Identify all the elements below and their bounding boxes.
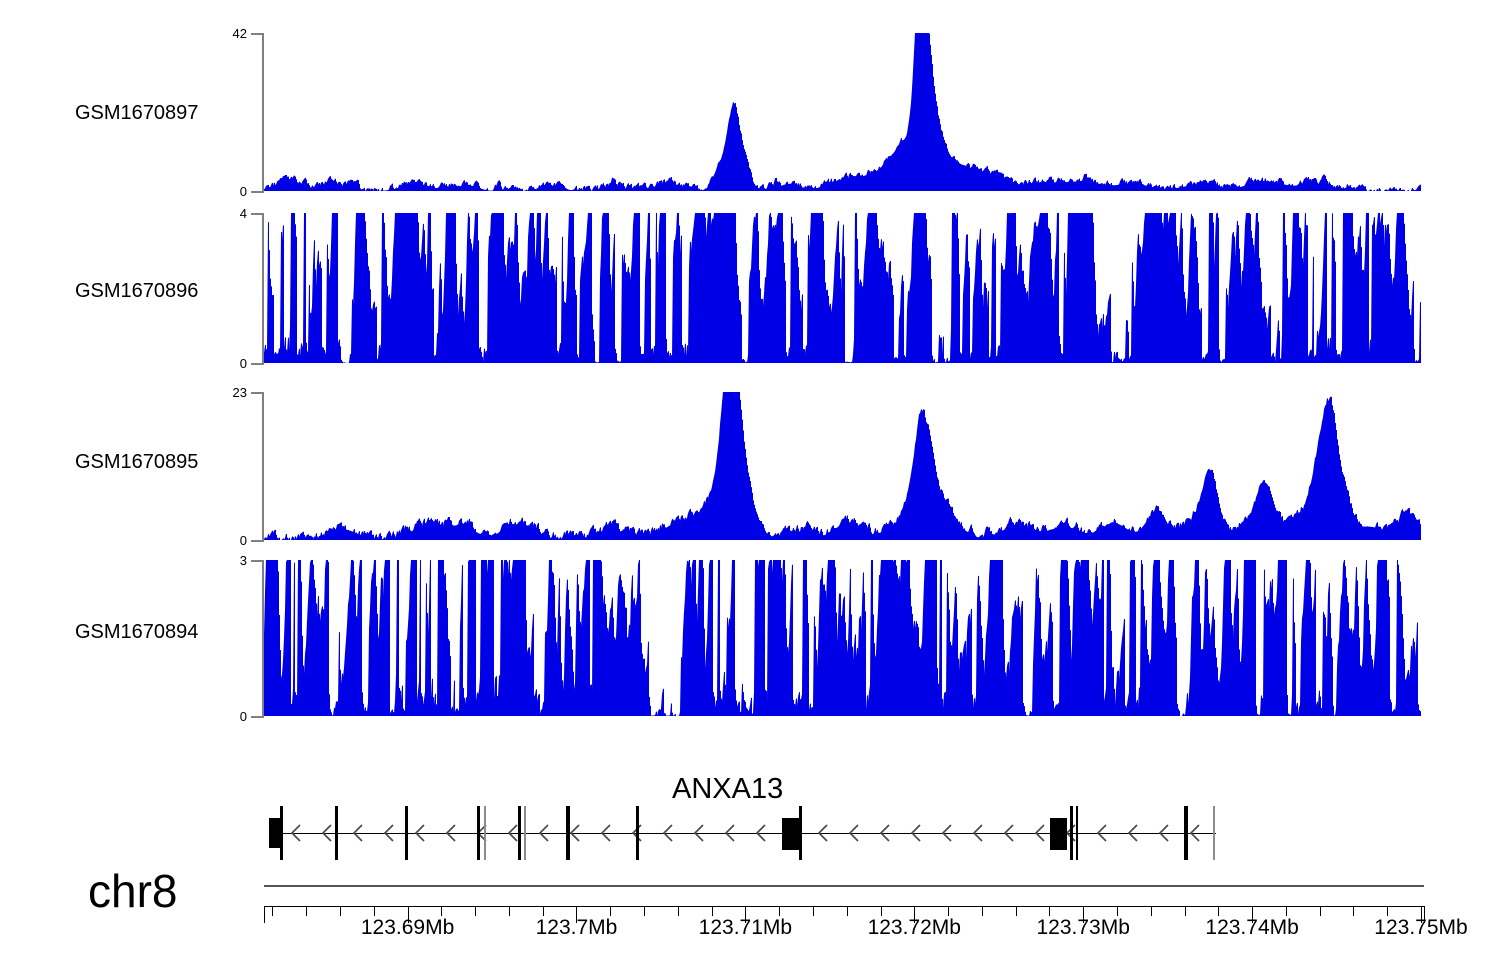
- strand-arrow-icon: [909, 822, 923, 844]
- ruler-minor-tick: [1049, 906, 1050, 916]
- strand-arrow-icon: [599, 822, 613, 844]
- exon-block[interactable]: [1050, 818, 1067, 850]
- strand-arrow-icon: [1095, 822, 1109, 844]
- y-axis-min-label: 0: [207, 710, 247, 723]
- strand-arrow-icon: [1157, 822, 1171, 844]
- exon-boundary-tick: [566, 806, 570, 860]
- exon-boundary-tick: [518, 806, 521, 860]
- track-sample-label: GSM1670896: [75, 281, 198, 301]
- track-sample-label: GSM1670897: [75, 103, 198, 123]
- exon-boundary-tick: [335, 806, 338, 860]
- ruler-minor-tick: [543, 906, 544, 916]
- exon-boundary-tick: [1070, 806, 1073, 860]
- strand-arrow-icon: [661, 822, 675, 844]
- ruler-minor-tick: [1185, 906, 1186, 916]
- ruler-minor-tick: [610, 906, 611, 916]
- y-axis-min-tick: [251, 191, 262, 193]
- strand-arrow-icon: [723, 822, 737, 844]
- gene-axis-rule: [264, 885, 1424, 887]
- ruler-minor-tick: [1320, 906, 1321, 916]
- y-axis-min-label: 0: [207, 357, 247, 370]
- y-axis-max-label: 23: [207, 386, 247, 399]
- exon-block[interactable]: [782, 818, 801, 850]
- genomic-coordinate-ruler[interactable]: 123.69Mb123.7Mb123.71Mb123.72Mb123.73Mb1…: [0, 900, 1500, 980]
- ruler-minor-tick: [1151, 906, 1152, 916]
- exon-boundary-tick: [477, 806, 480, 860]
- ruler-minor-tick: [1353, 906, 1354, 916]
- coverage-signal-canvas: [264, 392, 1421, 540]
- ruler-minor-tick: [847, 906, 848, 916]
- coverage-signal-canvas: [264, 213, 1421, 363]
- strand-arrow-icon: [1033, 822, 1047, 844]
- strand-arrow-icon: [816, 822, 830, 844]
- y-axis-max-label: 42: [207, 27, 247, 40]
- ruler-coordinate-label: 123.75Mb: [1321, 917, 1500, 938]
- strand-arrow-icon: [971, 822, 985, 844]
- ruler-minor-tick: [881, 906, 882, 916]
- strand-arrow-icon: [537, 822, 551, 844]
- coverage-signal-canvas: [264, 560, 1421, 716]
- strand-arrow-icon: [754, 822, 768, 844]
- ruler-minor-tick: [779, 906, 780, 916]
- exon-boundary-tick: [484, 806, 486, 860]
- ruler-minor-tick: [948, 906, 949, 916]
- ruler-minor-tick: [374, 906, 375, 916]
- exon-boundary-tick: [1076, 806, 1078, 860]
- strand-arrow-icon: [351, 822, 365, 844]
- ruler-start-cap: [264, 906, 265, 923]
- strand-arrow-icon: [382, 822, 396, 844]
- ruler-minor-tick: [340, 906, 341, 916]
- ruler-minor-tick: [306, 906, 307, 916]
- y-axis-min-label: 0: [207, 185, 247, 198]
- ruler-minor-tick: [1117, 906, 1118, 916]
- y-axis-min-tick: [251, 716, 262, 718]
- strand-arrow-icon: [444, 822, 458, 844]
- exon-boundary-tick: [636, 806, 639, 860]
- track-sample-label: GSM1670895: [75, 452, 198, 472]
- y-axis-min-label: 0: [207, 534, 247, 547]
- ruler-minor-tick: [272, 906, 273, 916]
- y-axis-max-tick: [251, 33, 262, 35]
- gene-annotation-region: ANXA13: [0, 760, 1500, 900]
- y-axis-min-tick: [251, 363, 262, 365]
- strand-arrow-icon: [692, 822, 706, 844]
- strand-arrow-icon: [320, 822, 334, 844]
- ruler-minor-tick: [712, 906, 713, 916]
- y-axis-min-tick: [251, 540, 262, 542]
- ruler-minor-tick: [1387, 906, 1388, 916]
- y-axis-max-tick: [251, 392, 262, 394]
- strand-arrow-icon: [847, 822, 861, 844]
- strand-arrow-icon: [940, 822, 954, 844]
- strand-arrow-icon: [878, 822, 892, 844]
- exon-block[interactable]: [269, 818, 281, 848]
- strand-arrow-icon: [1126, 822, 1140, 844]
- ruler-minor-tick: [1218, 906, 1219, 916]
- y-axis-max-tick: [251, 213, 262, 215]
- ruler-minor-tick: [475, 906, 476, 916]
- y-axis-max-label: 4: [207, 207, 247, 220]
- ruler-minor-tick: [509, 906, 510, 916]
- ruler-minor-tick: [982, 906, 983, 916]
- ruler-minor-tick: [678, 906, 679, 916]
- exon-boundary-tick: [405, 806, 408, 860]
- track-sample-label: GSM1670894: [75, 622, 198, 642]
- strand-arrow-icon: [289, 822, 303, 844]
- exon-boundary-tick: [524, 806, 526, 860]
- ruler-minor-tick: [813, 906, 814, 916]
- ruler-minor-tick: [1016, 906, 1017, 916]
- ruler-minor-tick: [441, 906, 442, 916]
- ruler-minor-tick: [1286, 906, 1287, 916]
- genome-browser-view: GSM1670897420GSM167089640GSM1670895230GS…: [0, 0, 1500, 980]
- strand-arrow-icon: [413, 822, 427, 844]
- strand-arrow-icon: [1002, 822, 1016, 844]
- y-axis-max-label: 3: [207, 554, 247, 567]
- coverage-signal-canvas: [264, 33, 1421, 191]
- exon-boundary-tick: [1184, 806, 1188, 860]
- ruler-baseline: [264, 906, 1424, 907]
- strand-arrow-icon: [1188, 822, 1202, 844]
- exon-boundary-tick: [1213, 806, 1215, 860]
- y-axis-max-tick: [251, 560, 262, 562]
- ruler-minor-tick: [644, 906, 645, 916]
- strand-arrow-icon: [568, 822, 582, 844]
- gene-name-label: ANXA13: [672, 775, 783, 804]
